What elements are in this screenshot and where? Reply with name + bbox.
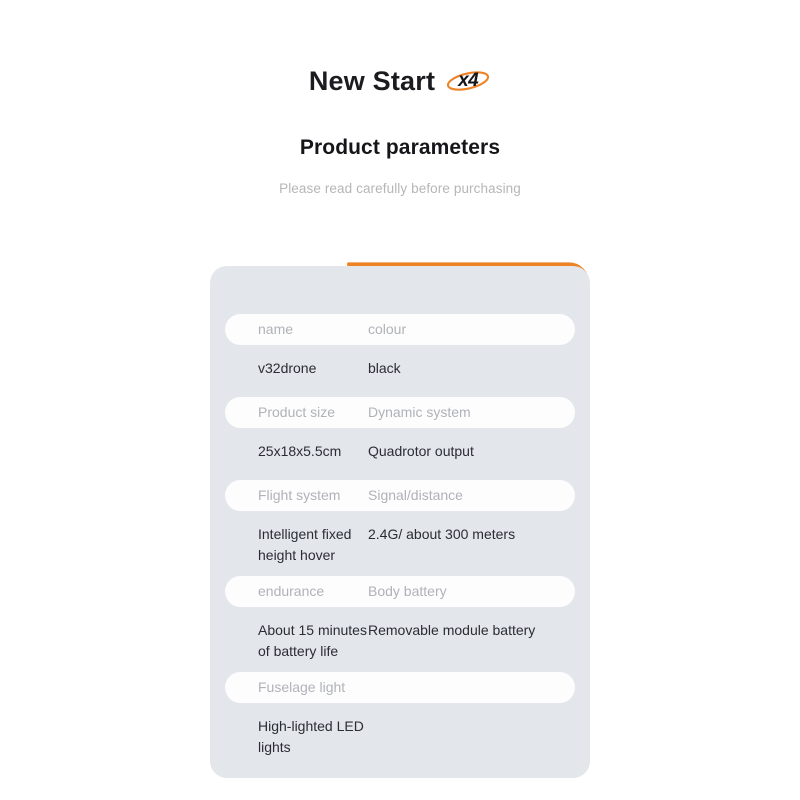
spec-block: Fuselage light High-lighted LED lights <box>210 672 590 767</box>
spec-block: Flight system Signal/distance Intelligen… <box>210 480 590 575</box>
spec-label-b: colour <box>368 321 406 337</box>
spec-row-list: name colour v32drone black Product size … <box>210 266 590 767</box>
spec-block: endurance Body battery About 15 minutes … <box>210 576 590 671</box>
spec-value-row: v32drone black <box>225 345 575 388</box>
brand-lockup: New Start x4 <box>309 64 491 98</box>
page-title: Product parameters <box>0 136 800 160</box>
brand-title: New Start <box>309 68 435 95</box>
spec-value-row: Intelligent fixed height hover 2.4G/ abo… <box>225 511 575 575</box>
spec-value-b: Removable module battery <box>368 620 558 641</box>
spec-label-a: Flight system <box>258 487 340 503</box>
spec-value-a: Intelligent fixed height hover <box>258 524 368 566</box>
spec-label-b: Body battery <box>368 583 447 599</box>
spec-label-pill: Fuselage light <box>225 672 575 703</box>
spec-label-a: endurance <box>258 583 324 599</box>
page-subtitle: Please read carefully before purchasing <box>0 181 800 196</box>
spec-label-a: Product size <box>258 404 335 420</box>
spec-label-pill: Flight system Signal/distance <box>225 480 575 511</box>
spec-value-row: High-lighted LED lights <box>225 703 575 767</box>
spec-label-pill: Product size Dynamic system <box>225 397 575 428</box>
spec-value-row: About 15 minutes of battery life Removab… <box>225 607 575 671</box>
spec-value-a: v32drone <box>258 358 368 379</box>
spec-label-pill: endurance Body battery <box>225 576 575 607</box>
spec-value-row: 25x18x5.5cm Quadrotor output <box>225 428 575 471</box>
spec-label-b: Signal/distance <box>368 487 463 503</box>
spec-label-a: name <box>258 321 293 337</box>
spec-value-a: 25x18x5.5cm <box>258 441 368 462</box>
spec-block: Product size Dynamic system 25x18x5.5cm … <box>210 397 590 471</box>
spec-card-body: name colour v32drone black Product size … <box>210 266 590 778</box>
spec-label-a: Fuselage light <box>258 679 345 695</box>
x4-orbit-logo: x4 <box>445 64 491 98</box>
spec-value-a: About 15 minutes of battery life <box>258 620 368 662</box>
spec-value-a: High-lighted LED lights <box>258 716 368 758</box>
spec-block: name colour v32drone black <box>210 314 590 388</box>
spec-value-b: 2.4G/ about 300 meters <box>368 524 558 545</box>
spec-value-b: black <box>368 358 558 379</box>
spec-label-b: Dynamic system <box>368 404 471 420</box>
x4-logo-text: x4 <box>445 64 491 98</box>
spec-label-pill: name colour <box>225 314 575 345</box>
brand-header: New Start x4 <box>0 0 800 108</box>
spec-value-b: Quadrotor output <box>368 441 558 462</box>
